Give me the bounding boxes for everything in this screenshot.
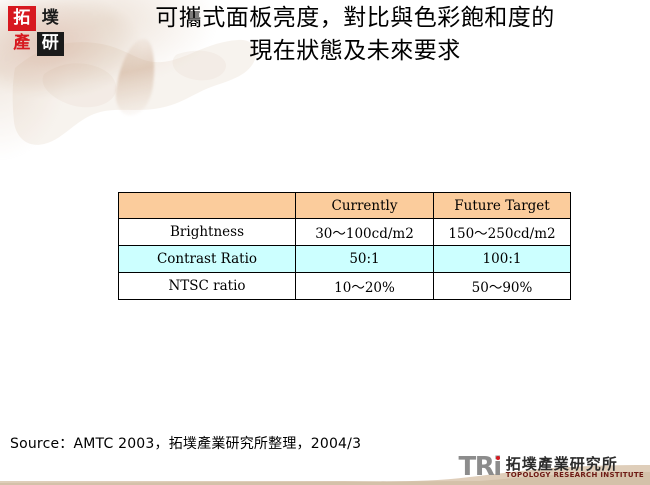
brand-glyph-1: 拓	[8, 6, 36, 31]
tri-logo-wordmark: TRi	[459, 455, 501, 480]
table-header-row: Currently Future Target	[119, 193, 571, 219]
cell-future: 150～250cd/m2	[434, 219, 571, 246]
tri-logo-chinese-name: 拓墣產業研究所	[506, 457, 618, 473]
brand-mark: 拓 墣 產 研	[8, 6, 64, 56]
tri-logo: TRi 拓墣產業研究所 TOPOLOGY RESEARCH INSTITUTE	[459, 450, 644, 480]
brand-glyph-2: 墣	[37, 6, 65, 31]
spec-table: Currently Future Target Brightness 30～10…	[118, 192, 571, 300]
table-row: Brightness 30～100cd/m2 150～250cd/m2	[119, 219, 571, 246]
header-cell-currently: Currently	[296, 193, 434, 219]
row-label: NTSC ratio	[119, 273, 296, 300]
header-cell-blank	[119, 193, 296, 219]
cell-future: 50～90%	[434, 273, 571, 300]
brand-glyph-3: 產	[8, 32, 36, 57]
row-label: Brightness	[119, 219, 296, 246]
brand-glyph-4: 研	[37, 32, 65, 57]
tri-logo-dot-icon	[496, 456, 500, 460]
table-row: Contrast Ratio 50:1 100:1	[119, 246, 571, 273]
cell-future: 100:1	[434, 246, 571, 273]
slide-canvas: 拓 墣 產 研 可攜式面板亮度，對比與色彩飽和度的 現在狀態及未來要求 Curr…	[0, 0, 650, 485]
source-note: Source：AMTC 2003，拓墣產業研究所整理，2004/3	[10, 433, 361, 453]
tri-logo-english-name: TOPOLOGY RESEARCH INSTITUTE	[506, 472, 644, 480]
cell-currently: 10～20%	[296, 273, 434, 300]
row-label: Contrast Ratio	[119, 246, 296, 273]
slide-title: 可攜式面板亮度，對比與色彩飽和度的 現在狀態及未來要求	[95, 2, 615, 67]
header-cell-future: Future Target	[434, 193, 571, 219]
cell-currently: 50:1	[296, 246, 434, 273]
table-row: NTSC ratio 10～20% 50～90%	[119, 273, 571, 300]
cell-currently: 30～100cd/m2	[296, 219, 434, 246]
